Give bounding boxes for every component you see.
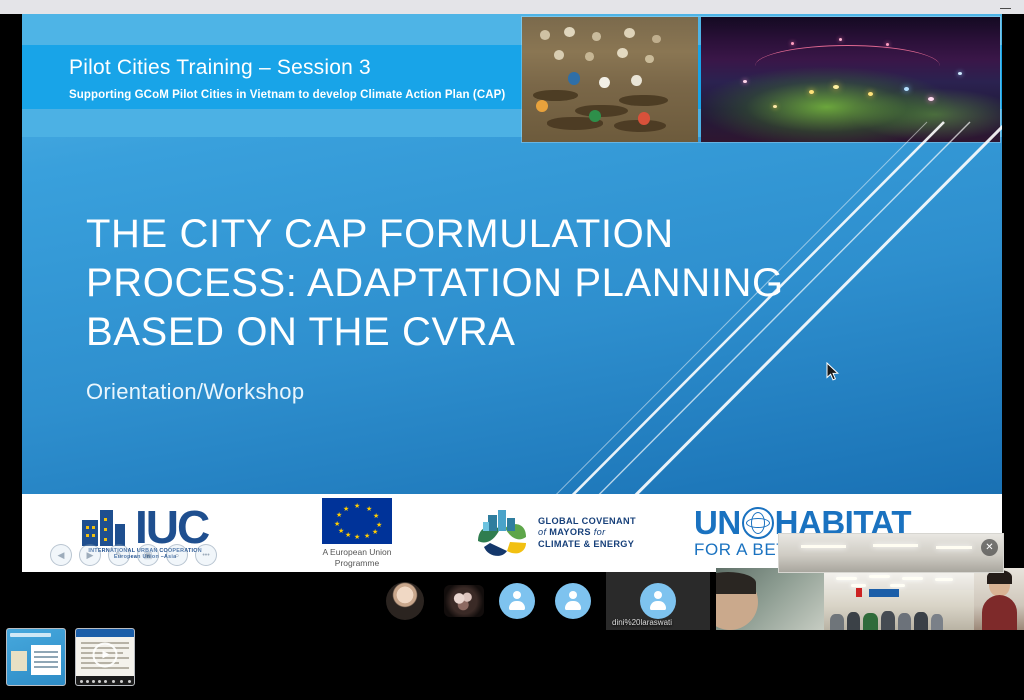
window-titlebar (0, 0, 1024, 14)
video-participant-woman[interactable] (974, 568, 1024, 630)
avatar (444, 585, 484, 617)
gcom-text-of: of (538, 527, 546, 537)
thumbnail-video-player[interactable] (75, 628, 135, 686)
slide-title-line-1: THE CITY CAP FORMULATION (86, 210, 786, 259)
pen-annotate-button[interactable]: ✎ (108, 544, 130, 566)
night-cityscape-photo (701, 17, 1000, 142)
iuc-buildings-icon (82, 506, 134, 546)
gcom-text-for: for (594, 527, 606, 537)
play-icon[interactable] (93, 642, 118, 667)
eu-caption-line1: A European Union (323, 547, 392, 558)
iuc-wordmark: IUC (135, 508, 208, 546)
slide-main-title: THE CITY CAP FORMULATION PROCESS: ADAPTA… (86, 210, 786, 357)
eu-flag-icon: ★ ★ ★ ★ ★ ★ ★ ★ ★ ★ ★ ★ (322, 498, 392, 544)
gcom-text-mayors: MAYORS (549, 527, 591, 537)
video-controls-bar[interactable] (76, 676, 134, 685)
participant-avatar-flower[interactable] (436, 572, 492, 630)
floating-market-photo (522, 17, 698, 142)
slideshow-toolbar: ◀ ▶ ✎ ▣ ⌕ ••• (50, 544, 217, 566)
camera-snapshot-button[interactable]: ▣ (137, 544, 159, 566)
slide-header-title: Pilot Cities Training – Session 3 (69, 56, 371, 80)
video-conference-room[interactable] (824, 568, 974, 630)
eu-caption-line2: Programme (323, 558, 392, 569)
zoom-magnify-button[interactable]: ⌕ (166, 544, 188, 566)
screen-root: Pilot Cities Training – Session 3 Suppor… (0, 0, 1024, 700)
next-slide-button[interactable]: ▶ (79, 544, 101, 566)
slide-subtitle: Orientation/Workshop (86, 379, 304, 405)
close-icon[interactable]: ✕ (981, 539, 998, 556)
un-globe-icon (742, 507, 774, 539)
avatar (499, 583, 535, 619)
slide-title-line-2: PROCESS: ADAPTATION PLANNING (86, 259, 786, 308)
participant-avatar-default-1[interactable] (492, 572, 542, 630)
participant-avatar-photo[interactable] (374, 572, 436, 630)
gcom-emblem-icon (474, 507, 530, 559)
avatar (640, 583, 676, 619)
previous-slide-button[interactable]: ◀ (50, 544, 72, 566)
gcom-logo: GLOBAL COVENANT of MAYORS for CLIMATE & … (474, 494, 636, 572)
slide-title-line-3: BASED ON THE CVRA (86, 308, 786, 357)
eu-logo: ★ ★ ★ ★ ★ ★ ★ ★ ★ ★ ★ ★ A European Union… (322, 494, 392, 572)
floating-video-overlay[interactable]: ✕ (778, 533, 1004, 573)
participant-avatar-dini[interactable]: dini%20laraswati (606, 572, 710, 630)
thumbnail-slide-preview[interactable] (6, 628, 66, 686)
minimize-button[interactable] (1000, 4, 1014, 14)
mouse-cursor (826, 362, 840, 382)
participant-avatar-default-2[interactable] (548, 572, 598, 630)
thumbnail-strip (6, 628, 135, 686)
gcom-text-line3: CLIMATE & ENERGY (538, 539, 636, 551)
video-participant-man[interactable] (716, 568, 824, 630)
avatar (555, 583, 591, 619)
more-options-button[interactable]: ••• (195, 544, 217, 566)
slide-header-subtitle: Supporting GCoM Pilot Cities in Vietnam … (69, 89, 505, 101)
unhabitat-word-un: UN (694, 506, 741, 539)
slide-photo-strip (522, 17, 1000, 142)
gcom-text-line1: GLOBAL COVENANT (538, 516, 636, 528)
avatar (386, 582, 424, 620)
shared-slide-stage[interactable]: Pilot Cities Training – Session 3 Suppor… (22, 14, 1002, 572)
participant-name-label: dini%20laraswati (612, 618, 672, 627)
